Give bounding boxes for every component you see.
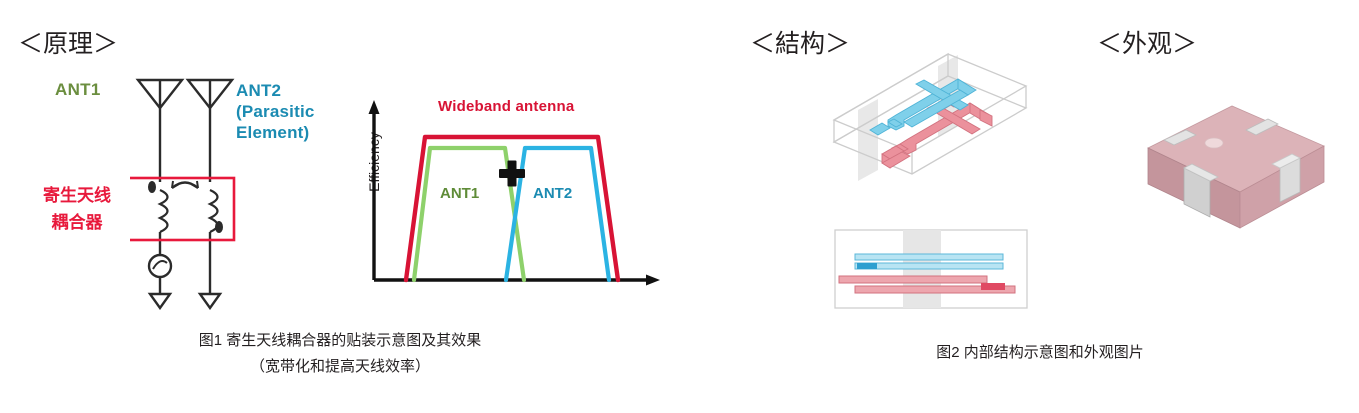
ac-source-symbol bbox=[149, 255, 171, 277]
section-heading-appearance: ＜外观＞ bbox=[1097, 24, 1197, 60]
caption-figure-1-line2: （宽带化和提高天线效率） bbox=[70, 354, 610, 380]
caption-figure-1-line1: 图1 寄生天线耦合器的贴装示意图及其效果 bbox=[70, 328, 610, 354]
antenna-symbol-ant1 bbox=[138, 80, 182, 182]
polarity-dot-secondary bbox=[215, 221, 223, 233]
component-polarity-mark bbox=[1205, 138, 1223, 148]
efficiency-chart: Wideband antenna Efficiency ANT1 ANT2 bbox=[348, 88, 678, 303]
label-coupler-line2: 耦合器 bbox=[22, 209, 132, 236]
ground-symbol-left bbox=[150, 294, 170, 308]
section-heading-principle: ＜原理＞ bbox=[18, 24, 118, 60]
structure-section: ＜結构＞ bbox=[745, 0, 1065, 320]
cross-section-view bbox=[833, 228, 1029, 310]
chart-label-ant2: ANT2 bbox=[533, 185, 572, 202]
label-coupler-line1: 寄生天线 bbox=[22, 182, 132, 209]
principle-section: ＜原理＞ ANT1 ANT2 (Parasitic Element) 寄生天线 … bbox=[0, 0, 340, 320]
chart-plot-area bbox=[348, 88, 678, 303]
appearance-section: ＜外观＞ bbox=[1090, 0, 1359, 320]
coupling-arrow bbox=[172, 181, 198, 188]
chart-label-ant1: ANT1 bbox=[440, 185, 479, 202]
internal-structure-3d bbox=[830, 48, 1030, 213]
circuit-schematic bbox=[130, 70, 260, 310]
label-ant1: ANT1 bbox=[55, 80, 101, 100]
coil-primary bbox=[160, 190, 168, 232]
caption-figure-2: 图2 内部结构示意图和外观图片 bbox=[800, 340, 1280, 366]
label-parasitic-coupler: 寄生天线 耦合器 bbox=[22, 182, 132, 236]
component-photo bbox=[1140, 100, 1340, 265]
polarity-dot-primary bbox=[148, 181, 156, 193]
chart-y-axis-arrow bbox=[369, 100, 380, 114]
caption-figure-1: 图1 寄生天线耦合器的贴装示意图及其效果 （宽带化和提高天线效率） bbox=[70, 328, 610, 380]
antenna-symbol-ant2 bbox=[188, 80, 232, 182]
chart-x-axis-arrow bbox=[646, 275, 660, 286]
ground-symbol-right bbox=[200, 294, 220, 308]
